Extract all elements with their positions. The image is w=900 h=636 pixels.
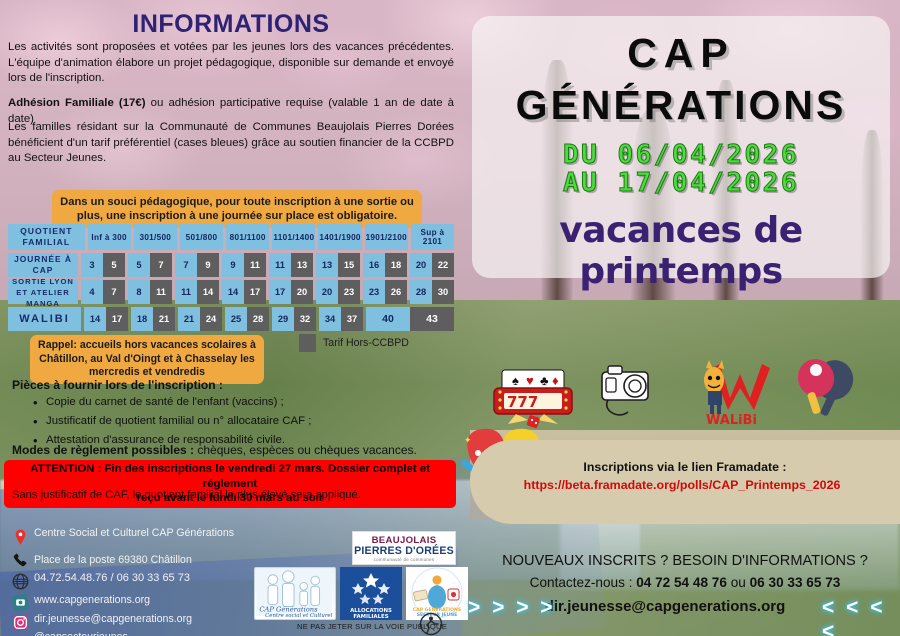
date-range-start: DU 06/04/2026 [472, 140, 890, 170]
adhesion-amount: Adhésion Familiale (17€) [8, 97, 146, 109]
price-cell-hors-ccbpd: 37 [341, 307, 363, 331]
documents-title: Pièces à fournir lors de l'inscription : [12, 378, 223, 392]
svg-text:Centre social et Culturel: Centre social et Culturel [265, 613, 332, 619]
table-price-pair: 1618 [363, 253, 407, 277]
price-cell-hors-ccbpd: 26 [385, 280, 407, 304]
document-item: Justificatif de quotient familial ou n° … [46, 415, 311, 427]
price-cell-ccbpd: 17 [269, 280, 291, 304]
table-column-header: Inf à 300 [88, 224, 131, 250]
camera-icon [592, 360, 664, 422]
table-price-pair: 79 [175, 253, 219, 277]
table-price-pair: 2528 [225, 307, 269, 331]
contact-line-email[interactable]: dir.jeunesse@capgenerations.org [34, 613, 192, 626]
price-cell-ccbpd: 13 [316, 253, 338, 277]
table-price-pair: 2326 [363, 280, 407, 304]
price-cell-ccbpd: 5 [128, 253, 150, 277]
table-row: WALIBI1417182121242528293234374043 [8, 307, 454, 331]
table-price-pair: 35 [81, 253, 125, 277]
price-cell-hors-ccbpd: 24 [200, 307, 222, 331]
price-cell-hors-ccbpd: 43 [410, 307, 454, 331]
price-cell-ccbpd: 25 [225, 307, 247, 331]
svg-text:♠: ♠ [512, 373, 519, 388]
price-cell-hors-ccbpd: 11 [244, 253, 266, 277]
date-range-end: AU 17/04/2026 [472, 168, 890, 198]
globe-icon [11, 572, 30, 591]
table-row: JOURNÉE À CAP3557799111113131516182022 [8, 253, 454, 277]
disclaimer-text: NE PAS JETER SUR LA VOIE PUBLIQUE [272, 622, 472, 631]
table-column-header: 1101/1400 [272, 224, 315, 250]
contact-line: Centre Social et Culturel CAP Génération… [34, 527, 244, 540]
price-cell-hors-ccbpd: 17 [244, 280, 266, 304]
price-cell-hors-ccbpd: 15 [338, 253, 360, 277]
table-column-header: 501/800 [180, 224, 223, 250]
contact-separator: ou [727, 575, 750, 590]
table-price-pair: 1114 [175, 280, 219, 304]
framadate-label: Inscriptions via le lien Framadate : [500, 460, 870, 474]
price-cell-hors-ccbpd: 30 [432, 280, 454, 304]
price-cell-ccbpd: 3 [81, 253, 103, 277]
contact-line: 04.72.54.48.76 / 06 30 33 65 73 [34, 572, 190, 585]
svg-text:♥: ♥ [526, 373, 534, 388]
price-cell-ccbpd: 8 [128, 280, 150, 304]
arrows-left-icon: > > > > [468, 596, 556, 620]
price-cell-ccbpd: 4 [81, 280, 103, 304]
table-price-pair: 57 [128, 253, 172, 277]
logo-cap-generations: CAP Générations Centre social et Culture… [254, 567, 336, 620]
price-cell-ccbpd: 21 [178, 307, 200, 331]
price-cell-ccbpd: 20 [316, 280, 338, 304]
svg-text:✦: ✦ [464, 435, 472, 445]
table-corner-label: QUOTIENT FAMILIAL [8, 224, 85, 250]
walibi-logo-icon: WALiBi [692, 358, 784, 426]
price-cell-ccbpd: 18 [131, 307, 153, 331]
table-price-pair: 1417 [222, 280, 266, 304]
table-body: JOURNÉE À CAP3557799111113131516182022SO… [8, 253, 454, 331]
payment-label: Modes de règlement possibles : [12, 443, 194, 457]
contact-phone-1: 04 72 54 48 76 [636, 575, 727, 590]
tarif-table: QUOTIENT FAMILIAL Inf à 300 301/500 501/… [8, 224, 454, 334]
contact-line: Place de la poste 69380 Châtillon [34, 554, 192, 567]
attention-line-1: ATTENTION : Fin des inscriptions le vend… [30, 463, 430, 490]
table-price-pair: 1113 [269, 253, 313, 277]
contact-phone-2: 06 30 33 65 73 [750, 575, 841, 590]
table-column-header: 801/1100 [226, 224, 269, 250]
price-cell-hors-ccbpd: 21 [153, 307, 175, 331]
table-price-pair: 1417 [84, 307, 128, 331]
table-column-header: 1401/1900 [318, 224, 361, 250]
price-cell-ccbpd: 14 [222, 280, 244, 304]
callout-pedagogique: Dans un souci pédagogique, pour toute in… [52, 190, 422, 228]
contact-text: @capsecteurjeunes [34, 631, 128, 636]
table-row: SORTIE LYON ET ATELIER MANGA478111114141… [8, 280, 454, 304]
contact-text: 04.72.54.48.76 / 06 30 33 65 73 [34, 572, 190, 584]
price-cell-ccbpd: 34 [319, 307, 341, 331]
table-price-pair: 1315 [316, 253, 360, 277]
contact-text: Centre Social et Culturel CAP Génération… [34, 527, 234, 539]
price-cell-ccbpd: 16 [363, 253, 385, 277]
callout-rappel: Rappel: accueils hors vacances scolaires… [30, 335, 264, 384]
price-cell-hors-ccbpd: 20 [291, 280, 313, 304]
location-pin-icon [11, 528, 30, 547]
price-cell-ccbpd: 40 [366, 307, 410, 331]
price-cell-ccbpd: 11 [175, 280, 197, 304]
document-item: Copie du carnet de santé de l'enfant (va… [46, 396, 284, 408]
price-cell-hors-ccbpd: 14 [197, 280, 219, 304]
title-line-generations: GÉNÉRATIONS [472, 82, 890, 129]
table-price-pair: 2124 [178, 307, 222, 331]
table-header-row: QUOTIENT FAMILIAL Inf à 300 301/500 501/… [8, 224, 454, 250]
ping-pong-icon [790, 358, 872, 420]
svg-text:777: 777 [507, 393, 538, 411]
price-cell-ccbpd: 7 [175, 253, 197, 277]
table-price-pair: 3437 [319, 307, 363, 331]
poster-canvas: INFORMATIONS Les activités sont proposée… [0, 0, 900, 636]
price-cell-hors-ccbpd: 32 [294, 307, 316, 331]
price-cell-hors-ccbpd: 13 [291, 253, 313, 277]
table-row-label: SORTIE LYON ET ATELIER MANGA [8, 280, 78, 304]
note-caf: Sans justificatif de CAF, le quotient fa… [12, 489, 361, 501]
contact-text: www.capgenerations.org [34, 594, 150, 606]
svg-text:WALiBi: WALiBi [706, 413, 757, 426]
price-cell-ccbpd: 23 [363, 280, 385, 304]
slot-machine-icon: ♠ ♥ ♣ ♦ 777 [488, 366, 578, 428]
svg-text:♣: ♣ [540, 373, 549, 388]
price-cell-ccbpd: 11 [269, 253, 291, 277]
price-cell-ccbpd: 14 [84, 307, 106, 331]
price-cell-ccbpd: 9 [222, 253, 244, 277]
table-price-pair: 4043 [366, 307, 454, 331]
price-cell-hors-ccbpd: 11 [150, 280, 172, 304]
table-price-pair: 911 [222, 253, 266, 277]
phone-icon [11, 551, 30, 570]
contact-text: dir.jeunesse@capgenerations.org [34, 613, 192, 625]
title-line-cap: CAP [472, 30, 890, 77]
svg-text:CAP Générations: CAP Générations [259, 605, 318, 613]
info-paragraph-3: Les familles résidant sur la Communauté … [8, 120, 454, 167]
price-cell-hors-ccbpd: 17 [106, 307, 128, 331]
table-price-pair: 811 [128, 280, 172, 304]
table-row-label: WALIBI [8, 307, 81, 331]
logo-beaujolais-line3: communauté de communes [374, 557, 435, 562]
price-cell-hors-ccbpd: 9 [197, 253, 219, 277]
payment-value: chèques, espèces ou chèques vacances. [194, 443, 417, 457]
price-cell-hors-ccbpd: 22 [432, 253, 454, 277]
legend-swatch-hors-ccbpd [299, 334, 316, 352]
info-paragraph-1: Les activités sont proposées et votées p… [8, 40, 454, 87]
logo-beaujolais-line2: PIERRES D'ORÉES [354, 545, 454, 557]
table-price-pair: 2932 [272, 307, 316, 331]
contact-line-website[interactable]: www.capgenerations.org [34, 594, 150, 607]
bottom-heading: NOUVEAUX INSCRITS ? BESOIN D'INFORMATION… [470, 553, 900, 569]
price-cell-hors-ccbpd: 7 [103, 280, 125, 304]
price-cell-ccbpd: 29 [272, 307, 294, 331]
price-cell-hors-ccbpd: 5 [103, 253, 125, 277]
title-subtitle: vacances de printemps [472, 210, 890, 292]
price-cell-hors-ccbpd: 28 [247, 307, 269, 331]
table-row-label: JOURNÉE À CAP [8, 253, 78, 277]
table-price-pair: 2022 [410, 253, 454, 277]
table-column-header: Sup à 2101 [411, 224, 454, 250]
page-title: INFORMATIONS [0, 10, 462, 39]
price-cell-hors-ccbpd: 7 [150, 253, 172, 277]
contact-line-social[interactable]: @capsecteurjeunes [34, 631, 128, 636]
table-price-pair: 2023 [316, 280, 360, 304]
svg-text:FAMILIALES: FAMILIALES [353, 614, 388, 620]
table-price-pair: 1720 [269, 280, 313, 304]
payment-methods: Modes de règlement possibles : chèques, … [12, 443, 417, 457]
legend-label-hors-ccbpd: Tarif Hors-CCBPD [323, 337, 409, 349]
table-price-pair: 47 [81, 280, 125, 304]
instagram-icon [11, 613, 30, 632]
arrows-right-icon: < < < < [822, 596, 900, 636]
table-column-header: 1901/2100 [365, 224, 408, 250]
price-cell-hors-ccbpd: 23 [338, 280, 360, 304]
table-column-header: 301/500 [134, 224, 177, 250]
price-cell-ccbpd: 28 [410, 280, 432, 304]
framadate-url[interactable]: https://beta.framadate.org/polls/CAP_Pri… [482, 478, 882, 492]
logo-beaujolais-pierres-dorees: BEAUJOLAIS PIERRES D'ORÉES communauté de… [352, 531, 456, 565]
logo-caf: ALLOCATIONS FAMILIALES [340, 567, 402, 620]
contact-text: Place de la poste 69380 Châtillon [34, 554, 192, 566]
price-cell-ccbpd: 20 [410, 253, 432, 277]
table-price-pair: 2830 [410, 280, 454, 304]
price-cell-hors-ccbpd: 18 [385, 253, 407, 277]
svg-text:♦: ♦ [552, 373, 559, 388]
contact-prefix: Contactez-nous : [530, 575, 637, 590]
camera-icon [11, 593, 30, 612]
bottom-contact-line: Contactez-nous : 04 72 54 48 76 ou 06 30… [470, 575, 900, 590]
table-price-pair: 1821 [131, 307, 175, 331]
